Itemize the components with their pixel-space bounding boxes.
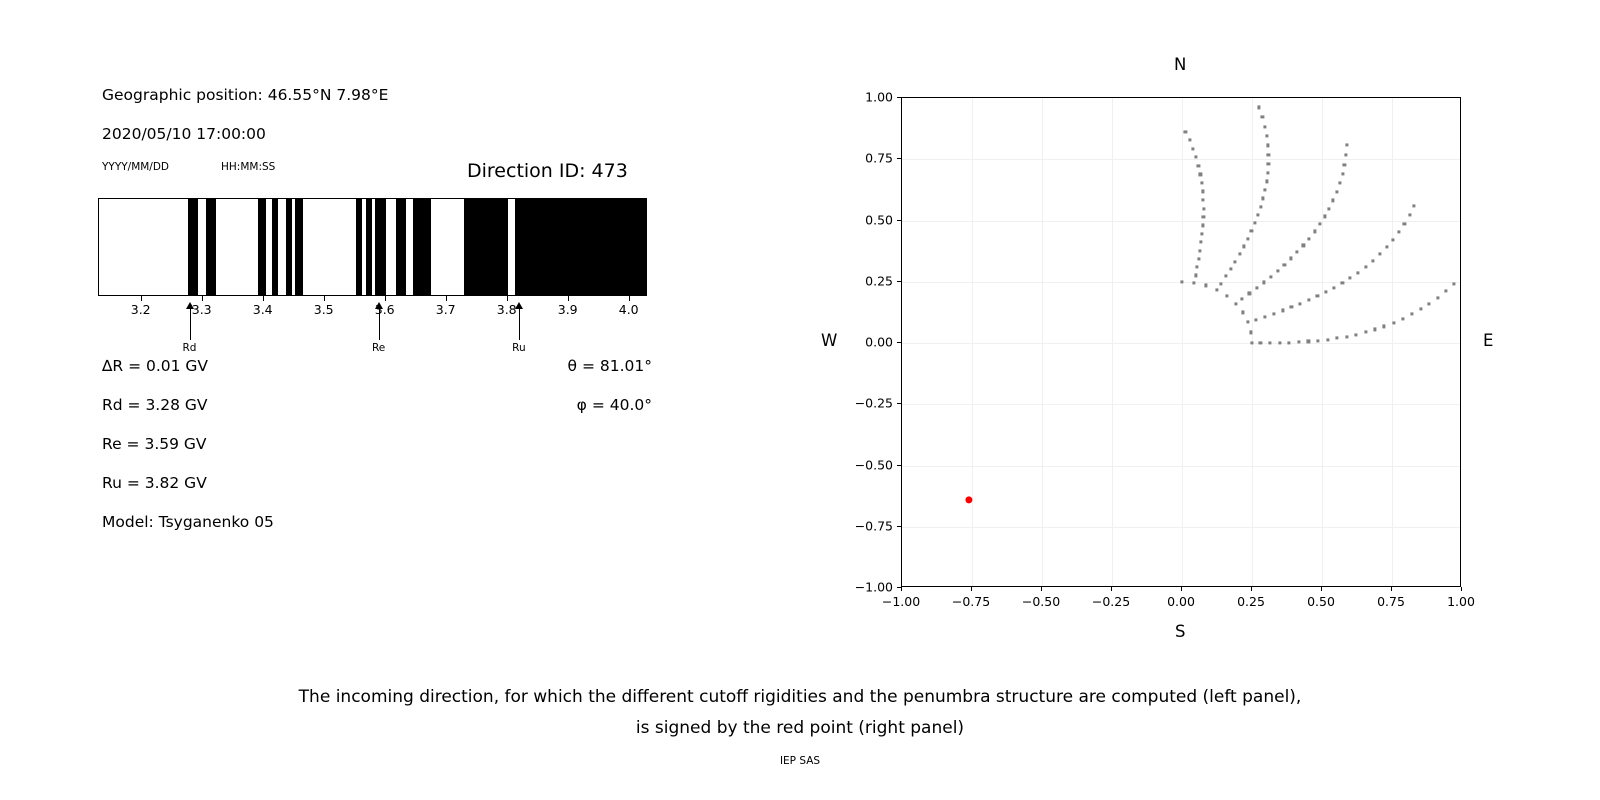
scatter-x-tick-label: 1.00 [1447,594,1475,609]
param-model: Model: Tsyganenko 05 [102,513,274,531]
scatter-x-tick-label: 0.50 [1307,594,1335,609]
marker-arrow-rd [190,308,191,340]
scatter-y-tick-label: −0.75 [835,518,893,533]
direction-point [1240,297,1243,300]
scatter-y-tick [897,158,901,159]
direction-point [1349,276,1352,279]
direction-point [1364,331,1367,334]
direction-point [1194,156,1197,159]
direction-point [1269,275,1272,278]
direction-point [1201,224,1204,227]
direction-point [1288,341,1291,344]
param-rd: Rd = 3.28 GV [102,396,208,414]
penumbra-forbidden-band [258,199,266,295]
gridline-vertical [1182,98,1183,586]
penumbra-forbidden-band [515,199,647,295]
direction-point [1262,197,1265,200]
scatter-y-tick-label: 0.50 [835,212,893,227]
direction-point [1194,274,1197,277]
direction-point [1200,241,1203,244]
scatter-y-tick [897,342,901,343]
penumbra-axis-tick-label: 3.4 [253,302,273,317]
direction-point [1191,147,1194,150]
direction-point [1336,337,1339,340]
direction-point [1267,162,1270,165]
scatter-x-tick-label: −0.50 [1022,594,1060,609]
penumbra-axis-tick [507,296,508,301]
scatter-y-tick-label: −0.25 [835,396,893,411]
scatter-x-tick-label: 0.75 [1377,594,1405,609]
direction-point [1201,232,1204,235]
penumbra-axis-tick-label: 3.6 [375,302,395,317]
penumbra-forbidden-band [464,199,508,295]
direction-point [1444,289,1447,292]
direction-point [1261,116,1264,119]
direction-point [1241,311,1244,314]
direction-point [1255,286,1258,289]
direction-point [1258,106,1261,109]
direction-point [1302,244,1305,247]
direction-point [1220,282,1223,285]
direction-point [1224,275,1227,278]
scatter-x-tick [1041,587,1042,591]
direction-point [1238,252,1241,255]
direction-point [1316,339,1319,342]
geographic-position-label: Geographic position: 46.55°N 7.98°E [102,86,388,104]
penumbra-axis-tick-label: 3.9 [558,302,578,317]
direction-point [1299,302,1302,305]
penumbra-figure: RdReRu [98,198,647,296]
direction-point [1265,180,1268,183]
direction-point [1281,309,1284,312]
gridline-vertical [1392,98,1393,586]
footer-credit: IEP SAS [0,755,1600,767]
figure-caption: The incoming direction, for which the di… [0,682,1600,744]
right-panel: N S E W −1.00−0.75−0.50−0.250.000.250.50… [800,0,1600,680]
penumbra-axis-tick-label: 4.0 [619,302,639,317]
direction-point [1204,284,1207,287]
direction-point [1385,246,1388,249]
scatter-x-tick-label: −0.25 [1092,594,1130,609]
direction-point [1188,139,1191,142]
direction-point [1356,271,1359,274]
scatter-y-tick [897,587,901,588]
datetime-label: 2020/05/10 17:00:00 [102,125,266,143]
direction-point [1397,231,1400,234]
scatter-x-tick [1111,587,1112,591]
marker-label-re: Re [372,342,385,354]
direction-point [1341,172,1344,175]
direction-point [1263,315,1266,318]
direction-point [1278,341,1281,344]
scatter-y-tick [897,281,901,282]
direction-point [1335,190,1338,193]
direction-point [1215,288,1218,291]
caption-line-2: is signed by the red point (right panel) [0,713,1600,744]
penumbra-axis-tick-label: 3.3 [192,302,212,317]
scatter-y-tick-label: 0.00 [835,335,893,350]
scatter-x-tick [1181,587,1182,591]
penumbra-axis-tick [202,296,203,301]
scatter-y-tick-label: 1.00 [835,90,893,105]
direction-point [1193,281,1196,284]
direction-point [1343,163,1346,166]
gridline-horizontal [902,527,1460,528]
direction-point [1313,230,1316,233]
scatter-x-tick [971,587,972,591]
direction-point [1246,320,1249,323]
gridline-horizontal [902,159,1460,160]
penumbra-forbidden-band [396,199,406,295]
compass-label-east: E [1483,331,1493,350]
direction-point [1266,144,1269,147]
direction-point [1234,260,1237,263]
scatter-y-tick-label: 0.75 [835,151,893,166]
direction-point [1419,308,1422,311]
direction-point [1341,281,1344,284]
direction-point [1408,214,1411,217]
gridline-horizontal [902,404,1460,405]
direction-point [1308,237,1311,240]
penumbra-forbidden-band [286,199,293,295]
direction-point [1202,198,1205,201]
param-delta-r: ∆R = 0.01 GV [102,357,208,375]
direction-point [1196,266,1199,269]
direction-point [1371,259,1374,262]
direction-point [1333,286,1336,289]
direction-point [1378,253,1381,256]
scatter-y-tick-label: −1.00 [835,580,893,595]
penumbra-axis-tick [385,296,386,301]
direction-point [1253,221,1256,224]
caption-line-1: The incoming direction, for which the di… [0,682,1600,713]
marker-arrow-ru [519,308,520,340]
direction-point [1254,318,1257,321]
direction-point [1345,335,1348,338]
direction-point [1283,263,1286,266]
scatter-y-tick [897,97,901,98]
param-ru: Ru = 3.82 GV [102,474,207,492]
direction-point [1364,265,1367,268]
penumbra-forbidden-band [366,199,373,295]
direction-point [1413,204,1416,207]
direction-point [1229,267,1232,270]
direction-scatter-plot [901,97,1461,587]
penumbra-axis-tick [324,296,325,301]
direction-point [1452,282,1455,285]
direction-point [1316,295,1319,298]
scatter-x-tick-label: 0.00 [1167,594,1195,609]
direction-point [1436,296,1439,299]
direction-point [1197,257,1200,260]
param-phi: φ = 40.0° [470,396,652,414]
direction-point [1246,237,1249,240]
direction-point [1383,325,1386,328]
direction-point [1200,181,1203,184]
marker-label-rd: Rd [183,342,197,354]
direction-point [1373,328,1376,331]
gridline-vertical [1112,98,1113,586]
param-re: Re = 3.59 GV [102,435,207,453]
direction-point [1410,313,1413,316]
penumbra-axis-tick [568,296,569,301]
direction-point [1225,294,1228,297]
direction-point [1307,340,1310,343]
left-panel: Geographic position: 46.55°N 7.98°E 2020… [0,0,800,680]
penumbra-axis-tick [263,296,264,301]
param-theta: θ = 81.01° [470,357,652,375]
penumbra-axis-tick [629,296,630,301]
penumbra-forbidden-band [206,199,216,295]
date-format-hint: YYYY/MM/DD [102,161,169,173]
direction-point [1201,190,1204,193]
scatter-x-tick-label: −0.75 [952,594,990,609]
penumbra-bar [98,198,647,296]
gridline-horizontal [902,466,1460,467]
direction-point [1401,317,1404,320]
penumbra-axis-tick-label: 3.5 [314,302,334,317]
direction-point [1355,333,1358,336]
penumbra-axis-tick-label: 3.7 [436,302,456,317]
direction-point [1296,250,1299,253]
scatter-y-tick [897,403,901,404]
scatter-x-tick [1461,587,1462,591]
penumbra-axis-tick [446,296,447,301]
direction-point [1403,222,1406,225]
scatter-y-tick-label: −0.50 [835,457,893,472]
direction-point [1234,302,1237,305]
scatter-x-tick [1251,587,1252,591]
penumbra-forbidden-band [356,199,362,295]
direction-point [1250,341,1253,344]
direction-point [1289,257,1292,260]
penumbra-axis-tick-label: 3.8 [497,302,517,317]
gridline-horizontal [902,343,1460,344]
direction-point [1180,280,1183,283]
direction-point [1199,173,1202,176]
direction-point [1250,229,1253,232]
direction-point [1256,213,1259,216]
penumbra-forbidden-band [188,199,198,295]
direction-point [1338,181,1341,184]
scatter-y-tick [897,526,901,527]
direction-point [1202,215,1205,218]
penumbra-axis-tick-label: 3.2 [131,302,151,317]
gridline-vertical [972,98,973,586]
direction-point [1197,164,1200,167]
direction-point [1184,130,1187,133]
direction-point [1259,341,1262,344]
compass-label-south: S [1175,622,1185,641]
gridline-vertical [1322,98,1323,586]
time-format-hint: HH:MM:SS [221,161,275,173]
direction-point [1249,331,1252,334]
direction-point [1345,143,1348,146]
direction-point [1344,153,1347,156]
direction-point [1392,321,1395,324]
direction-point [1198,249,1201,252]
direction-point [1268,341,1271,344]
direction-point [1248,292,1251,295]
direction-point [1290,306,1293,309]
direction-point [1265,134,1268,137]
penumbra-axis: 3.23.33.43.53.63.73.83.94.0 [98,296,647,310]
gridline-horizontal [902,221,1460,222]
direction-point [1266,171,1269,174]
penumbra-forbidden-band [272,199,278,295]
compass-label-north: N [1174,55,1186,74]
scatter-x-tick-label: −1.00 [882,594,920,609]
scatter-y-tick [897,465,901,466]
marker-label-ru: Ru [512,342,525,354]
direction-point [1272,312,1275,315]
direction-point [1297,341,1300,344]
scatter-x-tick [1391,587,1392,591]
penumbra-forbidden-band [413,199,431,295]
direction-point [1259,205,1262,208]
direction-point [1263,125,1266,128]
penumbra-forbidden-band [375,199,385,295]
direction-point [1428,302,1431,305]
scatter-x-tick [1321,587,1322,591]
penumbra-axis-tick [141,296,142,301]
direction-point [1326,338,1329,341]
scatter-x-tick-label: 0.25 [1237,594,1265,609]
gridline-vertical [1042,98,1043,586]
direction-point [1324,290,1327,293]
direction-point [1262,281,1265,284]
direction-point [1307,298,1310,301]
direction-point [1328,207,1331,210]
direction-point [1264,188,1267,191]
direction-point [1391,238,1394,241]
scatter-y-tick [897,220,901,221]
direction-point [1276,269,1279,272]
penumbra-forbidden-band [295,199,302,295]
direction-point [1318,223,1321,226]
direction-id-label: Direction ID: 473 [467,160,628,182]
direction-point [1332,199,1335,202]
direction-point [1267,153,1270,156]
scatter-y-tick-label: 0.25 [835,273,893,288]
scatter-x-tick [901,587,902,591]
direction-point [1323,215,1326,218]
direction-point [1242,245,1245,248]
direction-point [1202,207,1205,210]
